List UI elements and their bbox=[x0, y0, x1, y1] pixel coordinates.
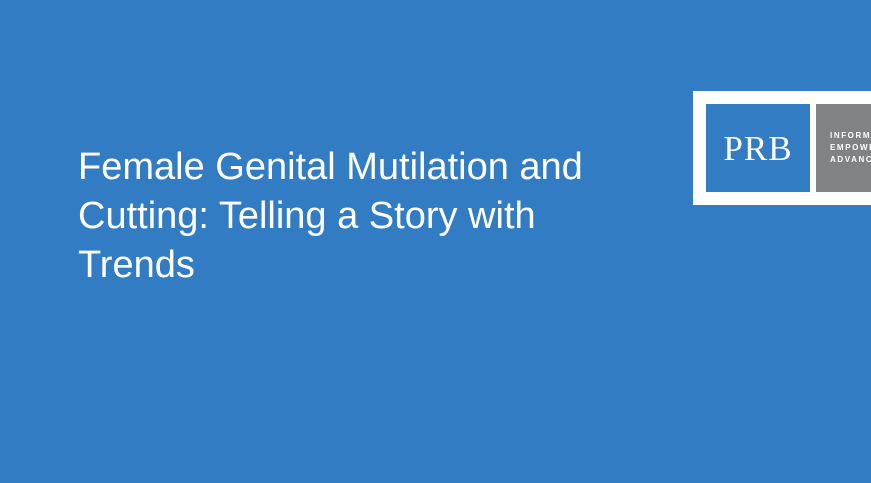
tagline-line-empower: EMPOWER bbox=[830, 142, 871, 154]
prb-logo-wordmark: PRB bbox=[723, 131, 792, 166]
tagline-line-advance: ADVANCE bbox=[830, 154, 871, 166]
page-title: Female Genital Mutilation and Cutting: T… bbox=[78, 143, 638, 290]
tagline-line-inform: INFORM bbox=[830, 130, 871, 142]
prb-logo: PRB INFORM EMPOWER ADVANCE bbox=[693, 91, 871, 205]
prb-logo-tagline: INFORM EMPOWER ADVANCE bbox=[816, 104, 871, 192]
title-slide: Female Genital Mutilation and Cutting: T… bbox=[0, 0, 871, 483]
prb-logo-mark: PRB bbox=[706, 104, 810, 192]
